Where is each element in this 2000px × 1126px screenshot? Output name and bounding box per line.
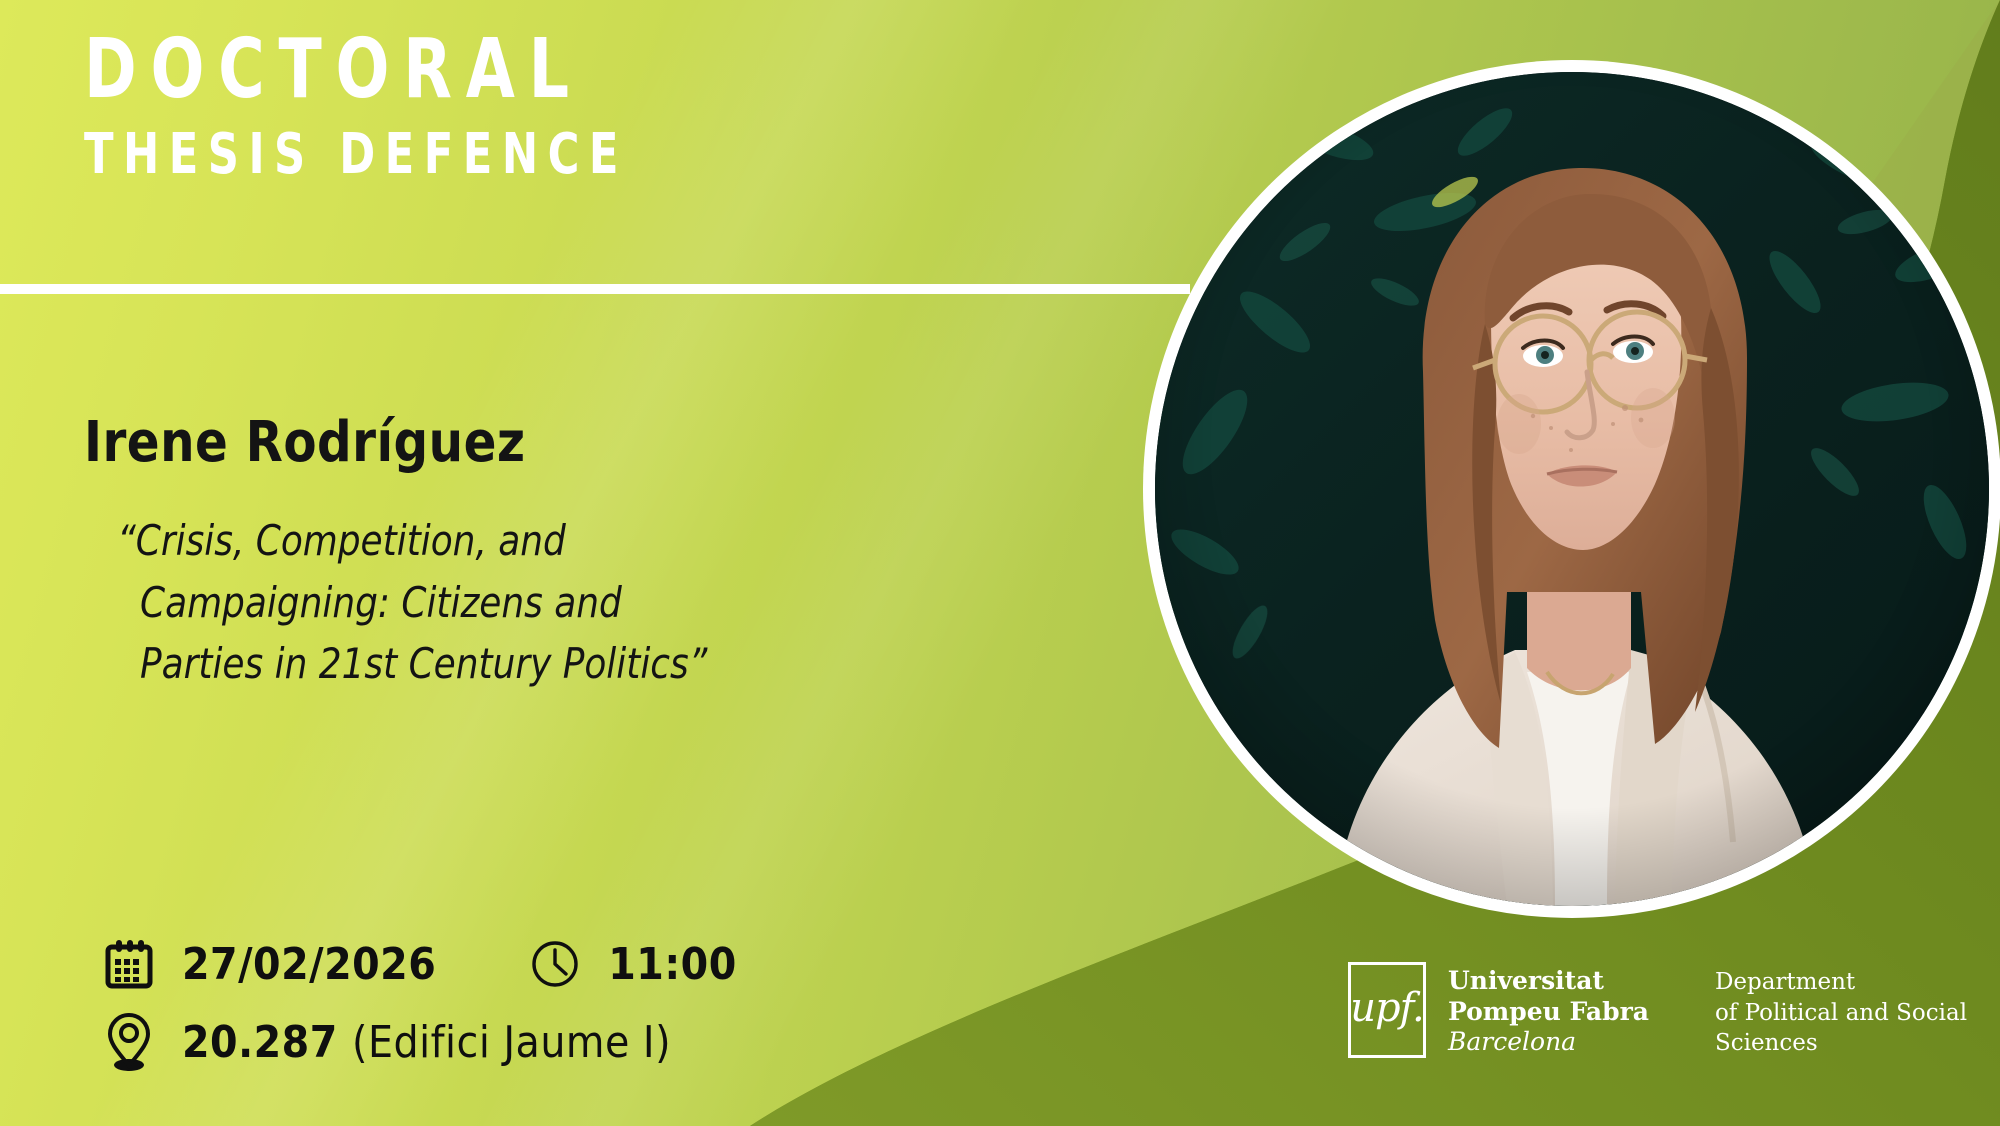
speaker-name: Irene Rodríguez — [84, 410, 525, 475]
poster-header: DOCTORAL THESIS DEFENCE — [84, 28, 716, 184]
department-line-2: of Political and Social — [1715, 998, 1967, 1029]
university-line-1: Universitat — [1448, 966, 1649, 997]
portrait-image — [1155, 72, 1989, 906]
event-time: 11:00 — [608, 939, 737, 990]
calendar-icon — [100, 935, 158, 993]
building-name: (Edifici Jaume I) — [352, 1017, 671, 1068]
clock-icon — [526, 935, 584, 993]
upf-department-name: Department of Political and Social Scien… — [1715, 962, 1967, 1059]
location-row: 20.287 (Edifici Jaume I) — [100, 1003, 737, 1081]
header-divider — [0, 284, 1190, 294]
doctoral-thesis-defence-poster: DOCTORAL THESIS DEFENCE Irene Rodríguez … — [0, 0, 2000, 1126]
department-line-3: Sciences — [1715, 1028, 1967, 1059]
university-city: Barcelona — [1448, 1027, 1649, 1058]
page-subtitle: THESIS DEFENCE — [84, 126, 628, 185]
thesis-title-line-1: “Crisis, Competition, and — [140, 510, 938, 572]
thesis-title: “Crisis, Competition, and Campaigning: C… — [140, 510, 938, 695]
room-number: 20.287 — [182, 1017, 338, 1068]
thesis-title-line-2: Campaigning: Citizens and — [140, 572, 938, 634]
event-date: 27/02/2026 — [182, 939, 436, 990]
speaker-portrait — [1143, 60, 2000, 918]
page-title: DOCTORAL — [84, 28, 628, 112]
upf-logo: upf. Universitat Pompeu Fabra Barcelona … — [1348, 962, 1967, 1059]
upf-logo-mark: upf. — [1348, 962, 1426, 1058]
map-pin-icon — [100, 1013, 158, 1071]
upf-university-name: Universitat Pompeu Fabra Barcelona — [1448, 962, 1649, 1058]
thesis-title-line-3: Parties in 21st Century Politics” — [140, 633, 938, 695]
department-line-1: Department — [1715, 967, 1967, 998]
university-line-2: Pompeu Fabra — [1448, 997, 1649, 1028]
event-location: 20.287 (Edifici Jaume I) — [182, 1017, 671, 1068]
date-time-row: 27/02/2026 11:00 — [100, 925, 737, 1003]
event-details: 27/02/2026 11:00 20.287 (Edif — [100, 925, 737, 1081]
event-time-group: 11:00 — [526, 935, 737, 993]
